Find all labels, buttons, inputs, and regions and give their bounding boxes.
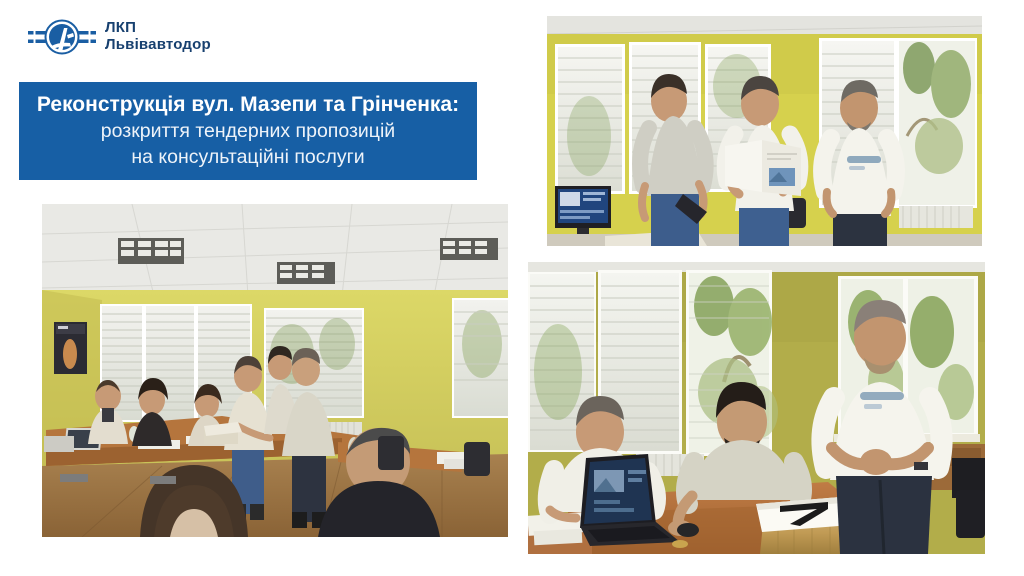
photo-laptop-team <box>528 262 985 554</box>
photo-three-men-standing <box>547 16 982 246</box>
brand-name-full: Львівавтодор <box>105 37 211 54</box>
photo-meeting-room <box>42 204 508 537</box>
title-subline-1: розкриття тендерних пропозицій <box>33 119 463 145</box>
photo-three-men-image <box>547 16 982 246</box>
title-subline-2: на консультаційні послуги <box>33 145 463 171</box>
lkp-lvivavtodor-road-emblem-icon <box>28 13 96 61</box>
title-banner: Реконструкція вул. Мазепи та Грінченка: … <box>19 82 477 180</box>
brand-logo-text: ЛКП Львівавтодор <box>105 20 211 54</box>
brand-logo: ЛКП Львівавтодор <box>28 13 211 61</box>
photo-laptop-team-image <box>528 262 985 554</box>
brand-name-short: ЛКП <box>105 20 211 37</box>
photo-meeting-room-image <box>42 204 508 537</box>
title-headline: Реконструкція вул. Мазепи та Грінченка: <box>33 92 463 118</box>
